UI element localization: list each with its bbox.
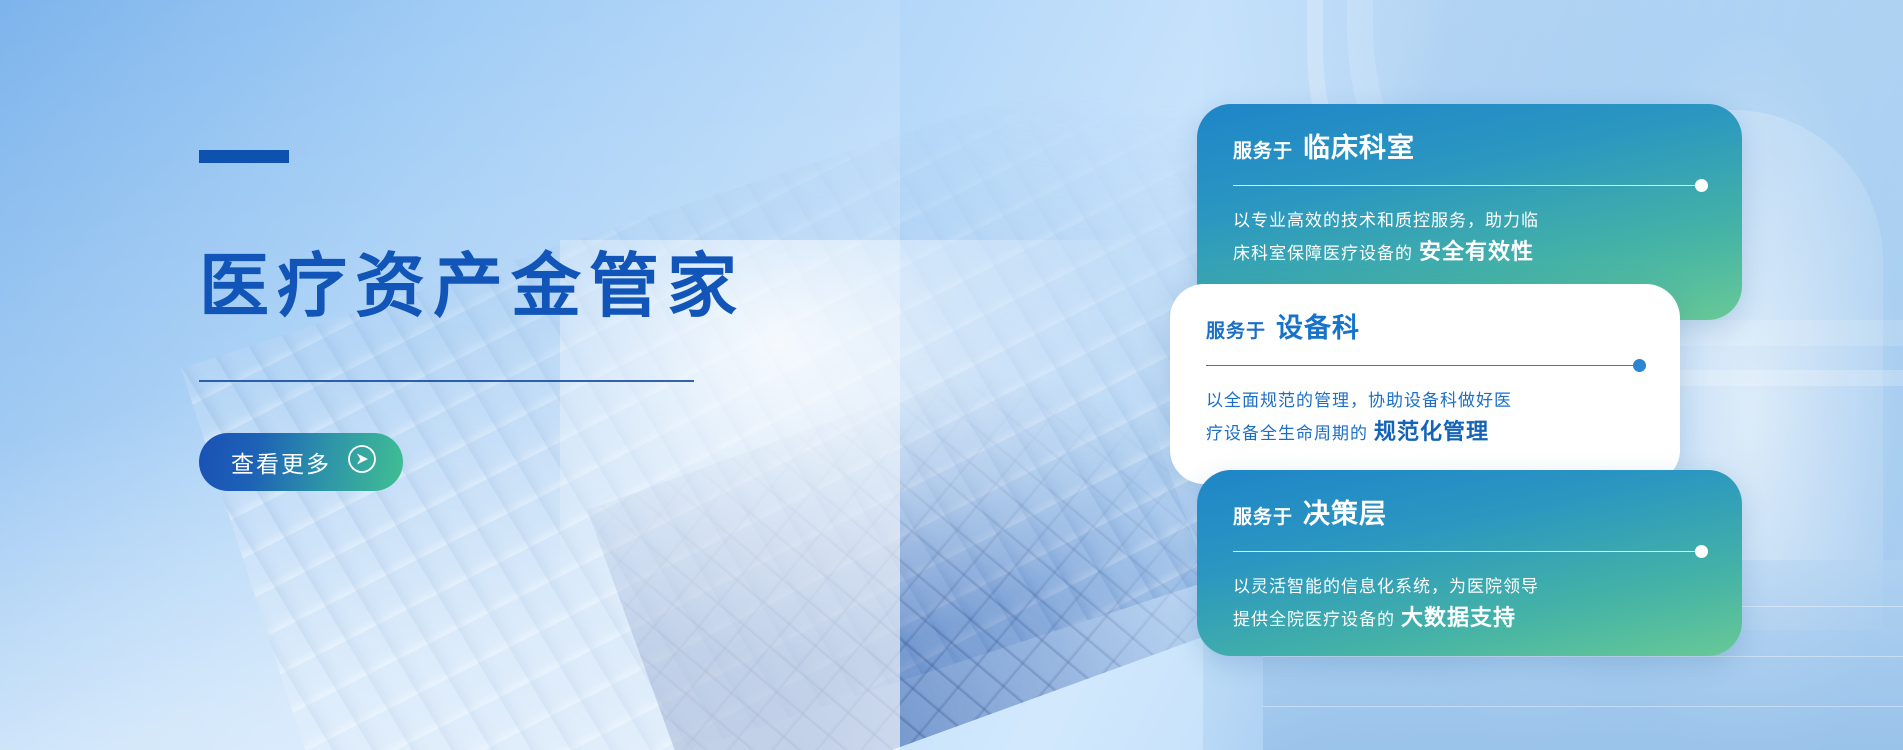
card-body-line-2-text: 床科室保障医疗设备的 (1233, 244, 1413, 263)
service-card-decision[interactable]: 服务于 决策层 以灵活智能的信息化系统，为医院领导 提供全院医疗设备的大数据支持 (1197, 470, 1742, 656)
card-subject: 决策层 (1303, 492, 1387, 531)
card-body-line-2: 疗设备全生命周期的规范化管理 (1206, 416, 1646, 449)
card-body-line-2: 床科室保障医疗设备的安全有效性 (1233, 236, 1708, 269)
card-body-line-2: 提供全院医疗设备的大数据支持 (1233, 602, 1708, 635)
card-rule (1206, 359, 1646, 373)
card-prefix: 服务于 (1206, 316, 1266, 343)
rule-line (1233, 185, 1708, 186)
card-body: 以灵活智能的信息化系统，为医院领导 提供全院医疗设备的大数据支持 (1233, 571, 1708, 635)
card-body-line-2-text: 提供全院医疗设备的 (1233, 610, 1395, 629)
service-card-list: 服务于 临床科室 以专业高效的技术和质控服务，助力临 床科室保障医疗设备的安全有… (0, 0, 1903, 750)
card-heading: 服务于 临床科室 (1233, 126, 1708, 165)
card-body-line-1: 以专业高效的技术和质控服务，助力临 (1233, 205, 1708, 236)
card-heading: 服务于 决策层 (1233, 492, 1708, 531)
hero-banner: 医疗资产金管家 查看更多 服务于 临床科室 (0, 0, 1903, 750)
card-heading: 服务于 设备科 (1206, 306, 1646, 345)
card-body-highlight: 大数据支持 (1401, 605, 1516, 630)
card-body: 以专业高效的技术和质控服务，助力临 床科室保障医疗设备的安全有效性 (1233, 205, 1708, 269)
rule-dot (1633, 359, 1646, 372)
card-body-highlight: 安全有效性 (1419, 239, 1534, 264)
rule-line (1233, 551, 1708, 552)
card-subject: 临床科室 (1303, 126, 1415, 165)
rule-dot (1695, 545, 1708, 558)
card-body-line-1: 以灵活智能的信息化系统，为医院领导 (1233, 571, 1708, 602)
service-card-equipment[interactable]: 服务于 设备科 以全面规范的管理，协助设备科做好医 疗设备全生命周期的规范化管理 (1170, 284, 1680, 484)
card-body-line-2-text: 疗设备全生命周期的 (1206, 424, 1368, 443)
card-body-highlight: 规范化管理 (1374, 419, 1489, 444)
card-prefix: 服务于 (1233, 136, 1293, 163)
card-subject: 设备科 (1276, 306, 1360, 345)
card-rule (1233, 545, 1708, 559)
card-body-line-1: 以全面规范的管理，协助设备科做好医 (1206, 385, 1646, 416)
card-prefix: 服务于 (1233, 502, 1293, 529)
rule-dot (1695, 179, 1708, 192)
card-body: 以全面规范的管理，协助设备科做好医 疗设备全生命周期的规范化管理 (1206, 385, 1646, 449)
card-rule (1233, 179, 1708, 193)
rule-line (1206, 365, 1646, 366)
